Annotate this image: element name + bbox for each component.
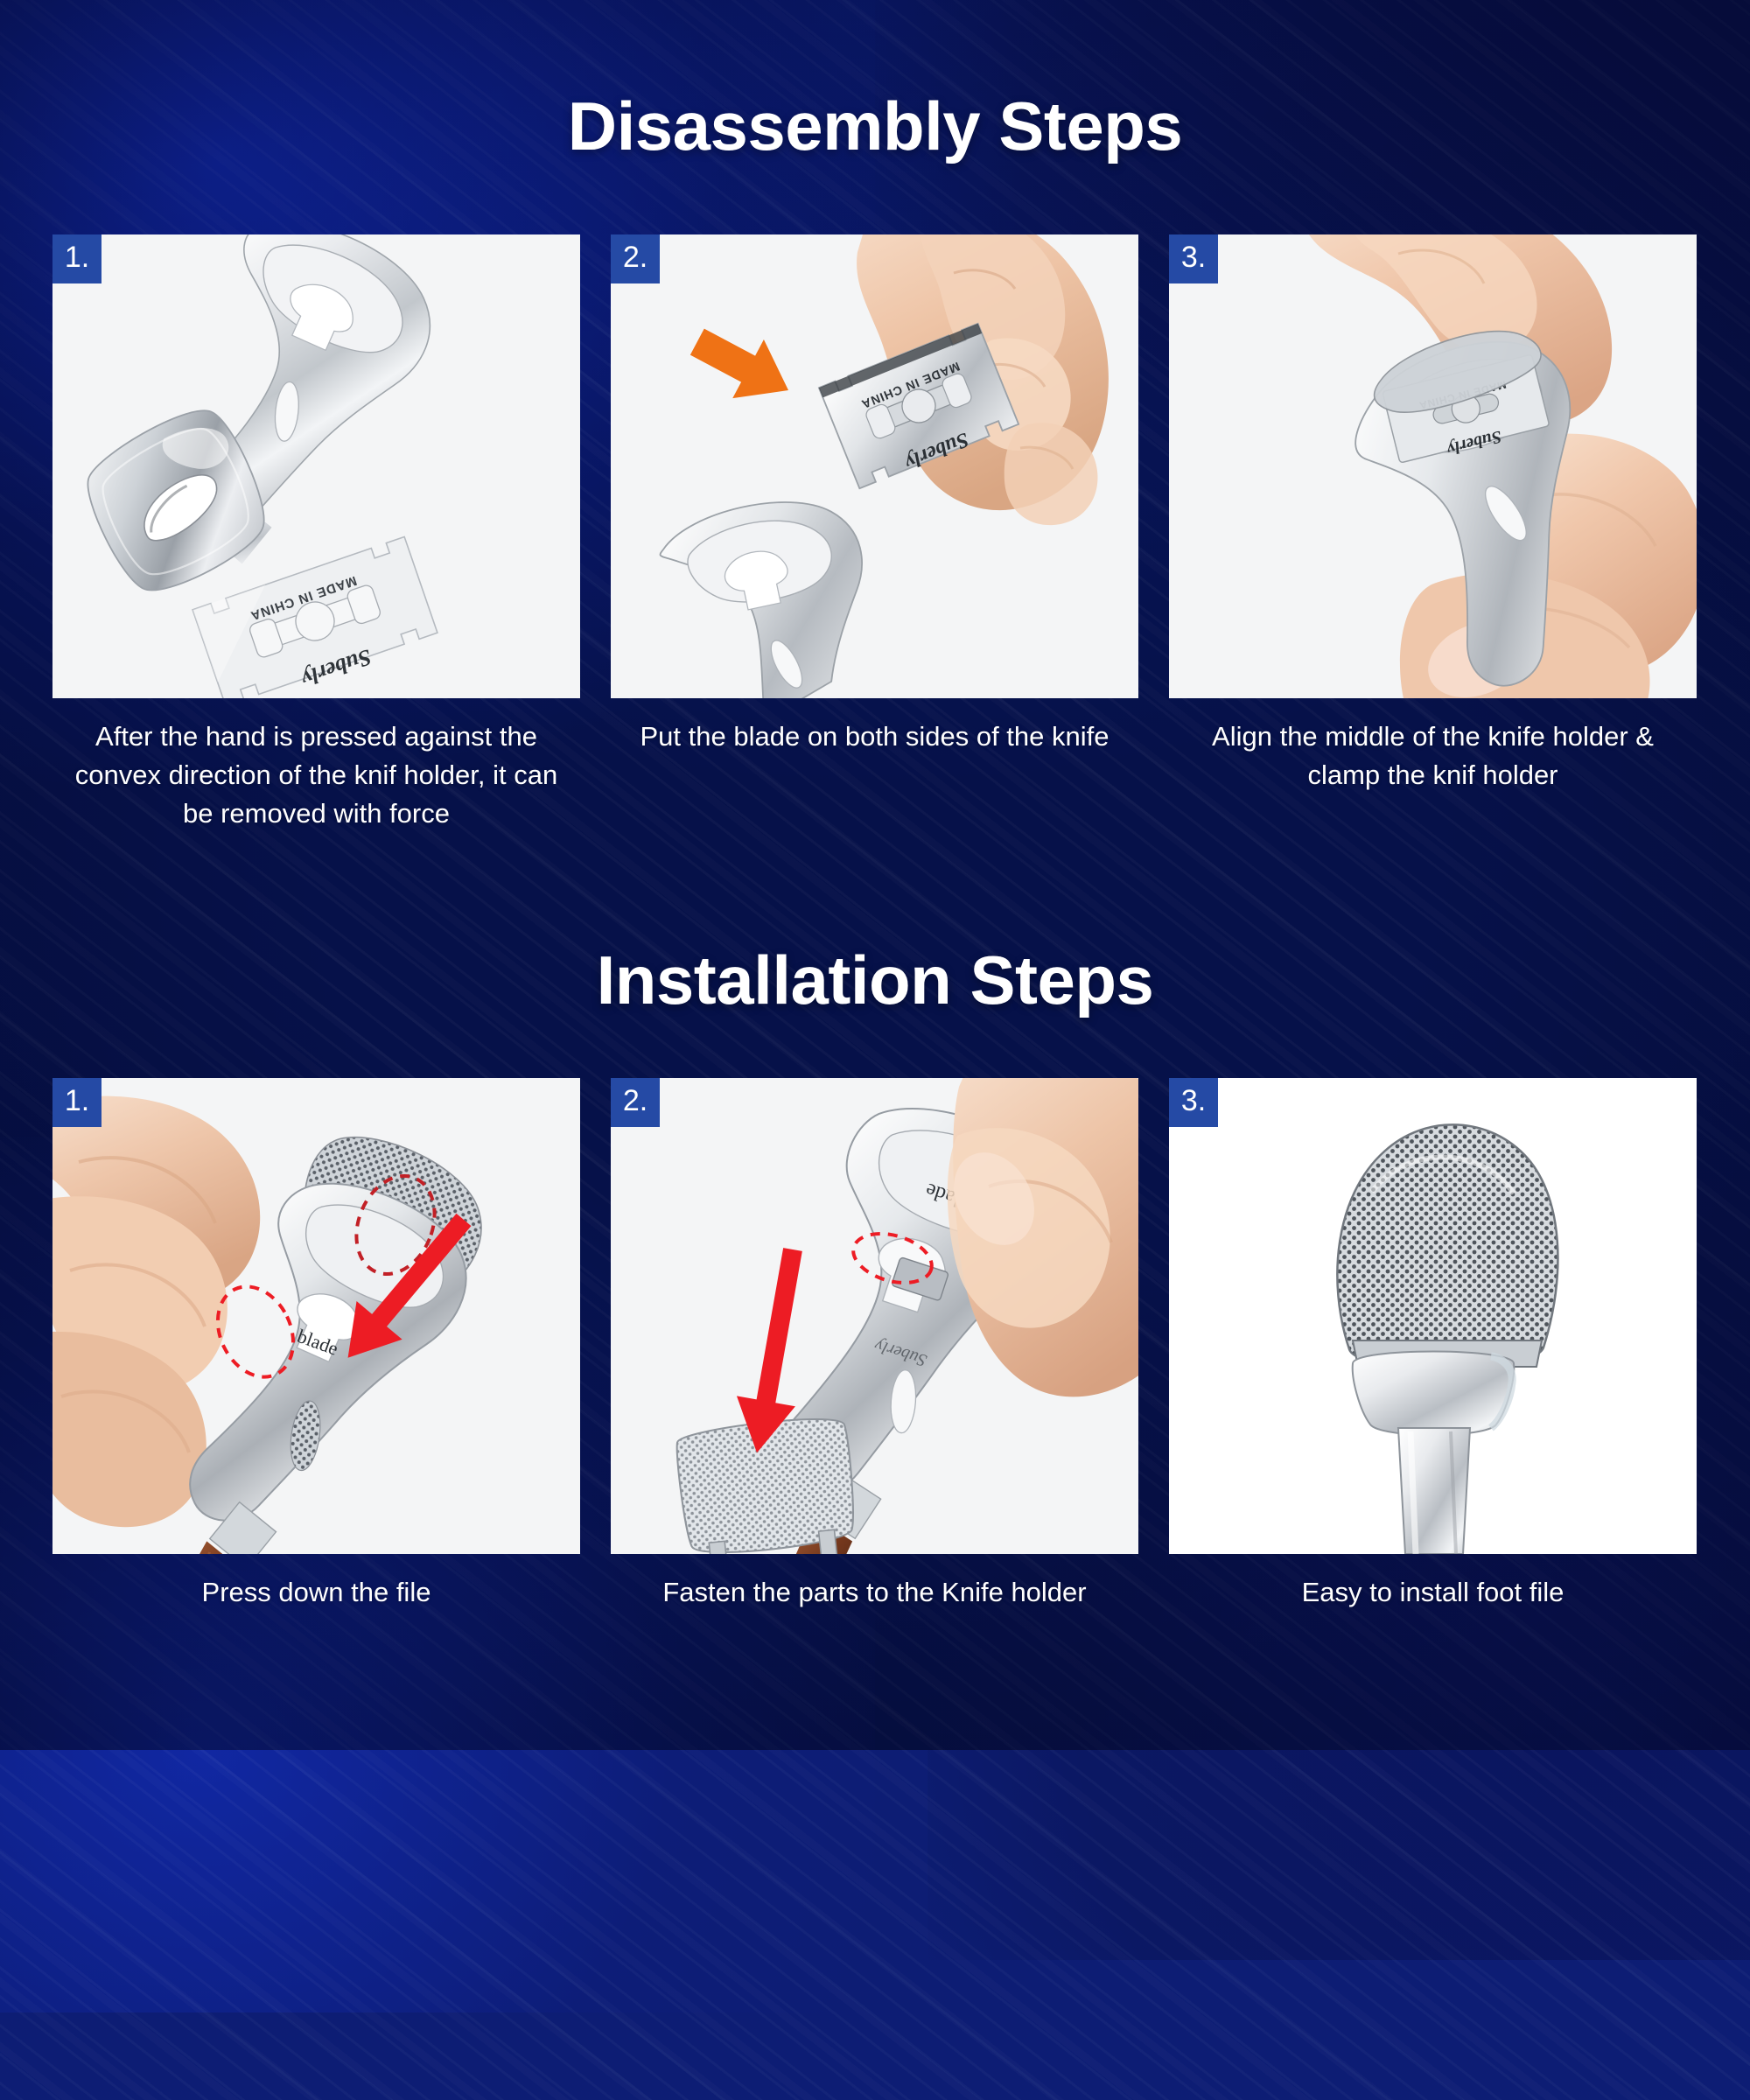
step-panel-disassembly-2: MADE IN CHINA Suberly bbox=[611, 234, 1138, 833]
step-panel-installation-1: blade bbox=[52, 1078, 580, 1612]
step-caption: Press down the file bbox=[52, 1573, 580, 1612]
scene-hand-holding-blade-arrow: MADE IN CHINA Suberly bbox=[611, 234, 1138, 698]
step-badge: 1. bbox=[52, 234, 101, 283]
step-image-installation-1: blade bbox=[52, 1078, 580, 1554]
step-caption: Easy to install foot file bbox=[1169, 1573, 1697, 1612]
section-title-disassembly: Disassembly Steps bbox=[0, 92, 1750, 160]
scene-blade-holder-exploded: MADE IN CHINA Suberly bbox=[52, 234, 580, 698]
step-badge: 2. bbox=[611, 234, 660, 283]
scene-press-down-file: blade bbox=[52, 1078, 580, 1554]
infographic-page: Disassembly Steps bbox=[0, 0, 1750, 1750]
step-panel-installation-3: 3. Easy to install foot file bbox=[1169, 1078, 1697, 1612]
step-caption: Align the middle of the knife holder & c… bbox=[1169, 717, 1697, 794]
step-image-disassembly-2: MADE IN CHINA Suberly bbox=[611, 234, 1138, 698]
holder-body bbox=[1353, 1352, 1515, 1436]
step-image-installation-2: blade Suberly bbox=[611, 1078, 1138, 1554]
step-image-disassembly-3: MADE IN CHINA Suberly 3. bbox=[1169, 234, 1697, 698]
scene-finished-foot-file bbox=[1169, 1078, 1697, 1554]
step-caption: After the hand is pressed against the co… bbox=[52, 717, 580, 833]
installation-steps-row: blade bbox=[52, 1078, 1697, 1612]
scene-hand-clamping-holder: MADE IN CHINA Suberly bbox=[1169, 234, 1697, 698]
step-badge: 3. bbox=[1169, 1078, 1218, 1127]
step-caption: Fasten the parts to the Knife holder bbox=[611, 1573, 1138, 1612]
step-panel-disassembly-3: MADE IN CHINA Suberly 3. Align the middl… bbox=[1169, 234, 1697, 833]
step-image-disassembly-1: MADE IN CHINA Suberly 1. bbox=[52, 234, 580, 698]
step-badge: 2. bbox=[611, 1078, 660, 1127]
step-badge: 3. bbox=[1169, 234, 1218, 283]
step-badge: 1. bbox=[52, 1078, 101, 1127]
step-caption: Put the blade on both sides of the knife bbox=[611, 717, 1138, 756]
step-panel-installation-2: blade Suberly bbox=[611, 1078, 1138, 1612]
handle-shaft bbox=[1398, 1428, 1470, 1554]
scene-fasten-parts: blade Suberly bbox=[611, 1078, 1138, 1554]
section-title-installation: Installation Steps bbox=[0, 946, 1750, 1014]
step-panel-disassembly-1: MADE IN CHINA Suberly 1. After the hand … bbox=[52, 234, 580, 833]
disassembly-steps-row: MADE IN CHINA Suberly 1. After the hand … bbox=[52, 234, 1697, 833]
step-image-installation-3: 3. bbox=[1169, 1078, 1697, 1554]
